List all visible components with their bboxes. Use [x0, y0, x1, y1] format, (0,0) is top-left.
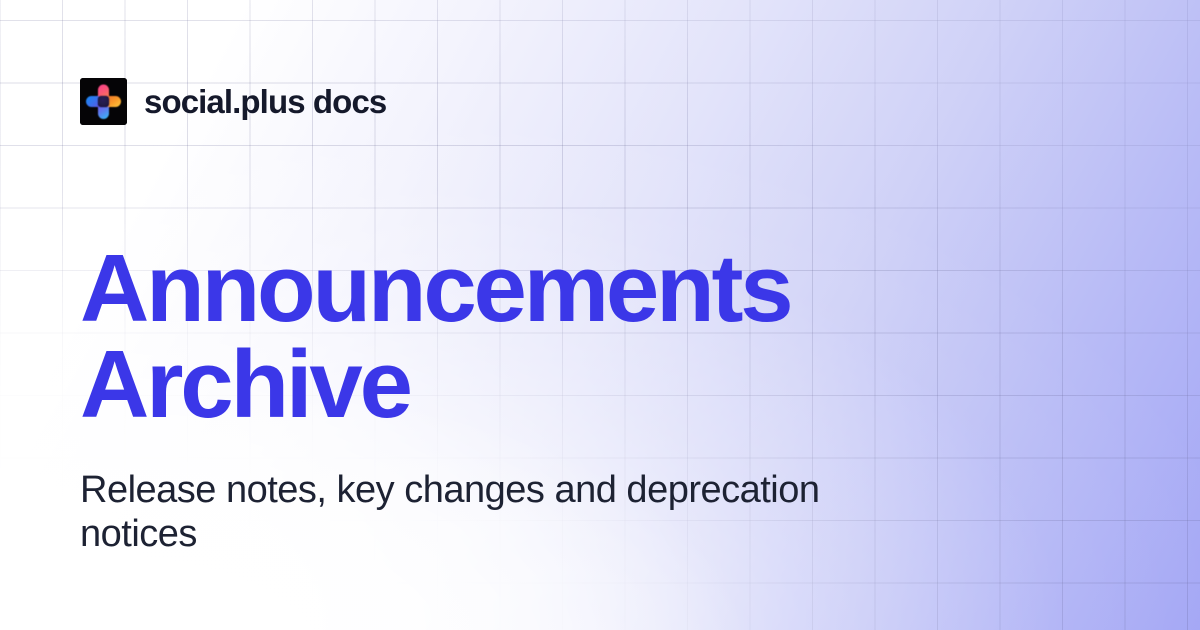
brand-name: social.plus docs	[144, 85, 386, 118]
brand-lockup: social.plus docs	[80, 78, 386, 125]
card-content: social.plus docs Announcements Archive R…	[0, 0, 1200, 630]
og-card: social.plus docs Announcements Archive R…	[0, 0, 1200, 630]
social-plus-cross-logo-icon	[80, 78, 127, 125]
page-subtitle: Release notes, key changes and deprecati…	[80, 468, 870, 556]
page-title: Announcements Archive	[80, 241, 880, 433]
